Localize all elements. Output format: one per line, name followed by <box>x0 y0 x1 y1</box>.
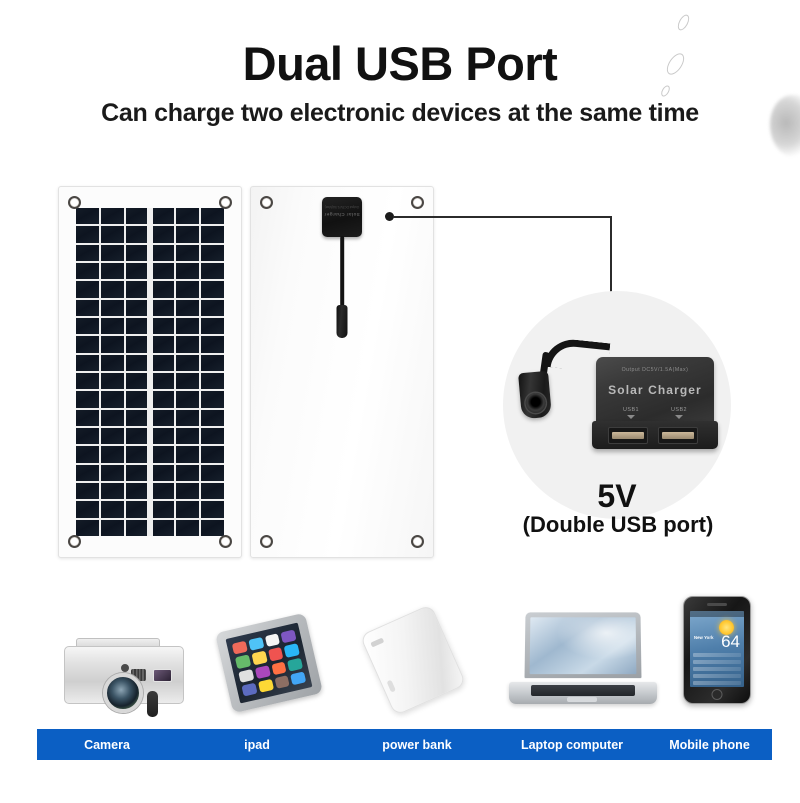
solar-cell <box>101 465 124 481</box>
grommet-icon <box>260 535 273 548</box>
app-icon <box>274 675 290 689</box>
solar-cell <box>153 465 174 481</box>
weather-temperature: 64 <box>721 633 740 650</box>
solar-cell <box>76 226 99 242</box>
usb1-label: USB1 <box>614 407 648 413</box>
solar-cell <box>153 263 174 279</box>
usb1-arrow-icon <box>627 415 635 419</box>
app-icon <box>251 651 267 665</box>
solar-cell <box>101 300 124 316</box>
usb-port-1 <box>608 427 648 444</box>
solar-cell <box>153 501 174 517</box>
solar-cell <box>76 465 99 481</box>
camera-viewfinder <box>153 669 172 682</box>
solar-cell <box>76 483 99 499</box>
grommet-icon <box>411 196 424 209</box>
solar-cell <box>201 245 224 261</box>
app-icon <box>287 657 303 671</box>
solar-cell <box>101 318 124 334</box>
solar-cell <box>101 391 124 407</box>
solar-cell <box>176 300 199 316</box>
solar-cell <box>101 410 124 426</box>
solar-cell <box>76 263 99 279</box>
solar-cell <box>76 245 99 261</box>
solar-cell <box>201 520 224 536</box>
solar-cell <box>153 355 174 371</box>
solar-cell <box>176 520 199 536</box>
solar-cell <box>201 300 224 316</box>
power-bank-port <box>370 638 384 648</box>
app-icon <box>271 661 287 675</box>
phone-speaker <box>707 603 727 606</box>
power-bank-button <box>387 680 396 693</box>
solar-cell <box>201 355 224 371</box>
device-mobile-phone: New York 64 <box>683 596 751 704</box>
camera-body <box>64 646 184 704</box>
dc-barrel-plug <box>518 371 552 419</box>
solar-cell <box>153 336 174 352</box>
solar-cell <box>76 446 99 462</box>
forecast-row <box>693 653 741 657</box>
phone-home-button <box>712 689 723 700</box>
usb2-arrow-icon <box>675 415 683 419</box>
solar-cell <box>126 483 147 499</box>
weather-forecast-rows <box>693 653 741 687</box>
power-bank-body <box>359 604 466 716</box>
solar-cell <box>201 465 224 481</box>
solar-cell <box>126 410 147 426</box>
laptop-base <box>509 682 657 704</box>
phone-status-bar <box>690 611 744 617</box>
solar-cell <box>76 300 99 316</box>
solar-cell <box>126 245 147 261</box>
solar-cell <box>201 281 224 297</box>
app-icon <box>248 637 264 651</box>
label-ipad: ipad <box>177 738 337 752</box>
solar-cell <box>201 410 224 426</box>
solar-cell <box>176 410 199 426</box>
device-row: New York 64 <box>37 592 772 704</box>
solar-cell <box>101 208 124 224</box>
solar-cell <box>176 373 199 389</box>
solar-cell <box>176 391 199 407</box>
ipad-screen <box>226 623 313 704</box>
forecast-row <box>693 660 741 664</box>
solar-cell <box>153 208 174 224</box>
usb-port-2 <box>658 427 698 444</box>
solar-cell <box>126 465 147 481</box>
solar-cell <box>101 483 124 499</box>
solar-cell <box>76 428 99 444</box>
solar-panel-front <box>58 186 242 558</box>
label-power-bank: power bank <box>337 738 497 752</box>
solar-cell <box>126 520 147 536</box>
solar-cell <box>201 336 224 352</box>
grommet-icon <box>219 535 232 548</box>
product-infographic: Dual USB Port Can charge two electronic … <box>0 0 800 803</box>
solar-cell <box>153 410 174 426</box>
phone-screen: New York 64 <box>690 611 744 687</box>
solar-cell <box>76 373 99 389</box>
app-icon <box>235 655 251 669</box>
solar-cell <box>101 281 124 297</box>
solar-cell <box>126 355 147 371</box>
solar-cell <box>153 520 174 536</box>
solar-cell <box>201 373 224 389</box>
junction-box: Solar Charger Output DC5V/1.5A(Max) <box>322 197 362 237</box>
solar-cell <box>101 501 124 517</box>
label-mobile-phone: Mobile phone <box>647 738 772 752</box>
solar-panel-back: Solar Charger Output DC5V/1.5A(Max) <box>250 186 434 558</box>
app-icon <box>281 629 297 643</box>
solar-cell <box>176 336 199 352</box>
solar-cell <box>126 226 147 242</box>
solar-cell <box>201 428 224 444</box>
solar-cell <box>126 208 147 224</box>
solar-cell <box>126 428 147 444</box>
app-icon <box>238 669 254 683</box>
dc-plug <box>337 305 348 338</box>
solar-cell <box>153 428 174 444</box>
solar-cell <box>76 520 99 536</box>
forecast-row <box>693 674 741 678</box>
device-laptop <box>509 612 657 704</box>
solar-cell <box>201 263 224 279</box>
solar-cell <box>76 501 99 517</box>
camera-lens <box>103 673 143 713</box>
solar-cell <box>176 318 199 334</box>
solar-cell-grid <box>76 208 224 536</box>
solar-cell <box>101 226 124 242</box>
solar-cell <box>153 226 174 242</box>
solar-cell <box>176 483 199 499</box>
solar-cell <box>126 318 147 334</box>
bubble-decor-1 <box>676 13 692 32</box>
solar-cell <box>201 318 224 334</box>
solar-cell <box>76 355 99 371</box>
solar-cell <box>176 355 199 371</box>
solar-cell <box>101 245 124 261</box>
solar-cell <box>176 263 199 279</box>
solar-cell <box>101 520 124 536</box>
device-label-bar: Camera ipad power bank Laptop computer M… <box>37 729 772 760</box>
charger-output-text: Output DC5V/1.5A(Max) <box>596 367 714 373</box>
solar-cell <box>101 336 124 352</box>
junction-box-output: Output DC5V/1.5A(Max) <box>322 205 362 209</box>
solar-cell <box>176 501 199 517</box>
solar-cell <box>176 428 199 444</box>
charger-port-strip <box>592 421 718 449</box>
label-camera: Camera <box>37 738 177 752</box>
page-subtitle: Can charge two electronic devices at the… <box>0 99 800 128</box>
grommet-icon <box>68 535 81 548</box>
solar-cell <box>153 446 174 462</box>
solar-cell <box>126 336 147 352</box>
solar-cell <box>153 281 174 297</box>
weather-city: New York <box>694 635 714 640</box>
app-icon <box>264 633 280 647</box>
junction-box-brand: Solar Charger <box>322 212 362 217</box>
solar-cell <box>176 208 199 224</box>
camera-shutter-button <box>121 664 129 672</box>
solar-cell <box>126 300 147 316</box>
voltage-caption: 5V <box>503 478 731 515</box>
device-ipad <box>215 613 323 714</box>
grommet-icon <box>411 535 424 548</box>
app-icon <box>290 671 306 685</box>
forecast-row <box>693 681 741 685</box>
dc-cable <box>340 236 344 308</box>
forecast-row <box>693 667 741 671</box>
app-icon <box>268 647 284 661</box>
solar-cell <box>201 391 224 407</box>
solar-cell <box>126 446 147 462</box>
ports-caption: (Double USB port) <box>480 512 756 538</box>
solar-charger-module: Output DC5V/1.5A(Max) Solar Charger USB1… <box>596 357 714 425</box>
page-title: Dual USB Port <box>0 36 800 91</box>
app-icon <box>241 682 257 696</box>
phone-body: New York 64 <box>683 596 751 704</box>
label-laptop: Laptop computer <box>497 738 647 752</box>
laptop-keyboard <box>531 685 635 696</box>
solar-cell <box>153 245 174 261</box>
solar-cell <box>101 428 124 444</box>
solar-cell <box>176 465 199 481</box>
usb2-label: USB2 <box>662 407 696 413</box>
solar-cell <box>126 391 147 407</box>
solar-cell <box>101 263 124 279</box>
solar-cell <box>153 300 174 316</box>
solar-cell <box>201 226 224 242</box>
solar-cell <box>76 336 99 352</box>
laptop-screen <box>530 617 637 674</box>
app-icon <box>232 641 248 655</box>
solar-cell <box>126 263 147 279</box>
solar-cell <box>201 446 224 462</box>
device-camera <box>64 632 184 704</box>
solar-cell <box>76 410 99 426</box>
app-icon <box>258 679 274 693</box>
app-icon <box>254 665 270 679</box>
callout-line-horizontal <box>393 216 612 218</box>
solar-cell <box>153 373 174 389</box>
grommet-icon <box>260 196 273 209</box>
solar-cell <box>176 281 199 297</box>
ipad-body <box>215 613 323 714</box>
solar-cell <box>201 483 224 499</box>
solar-cell <box>76 208 99 224</box>
solar-cell <box>153 483 174 499</box>
solar-cell <box>101 446 124 462</box>
laptop-trackpad <box>567 697 597 702</box>
solar-cell <box>76 318 99 334</box>
solar-cell <box>101 355 124 371</box>
solar-cell <box>201 501 224 517</box>
solar-cell <box>76 391 99 407</box>
grommet-icon <box>68 196 81 209</box>
grommet-icon <box>219 196 232 209</box>
solar-cell <box>126 373 147 389</box>
solar-cell <box>176 446 199 462</box>
solar-cell <box>176 226 199 242</box>
solar-cell <box>101 373 124 389</box>
solar-cell <box>201 208 224 224</box>
solar-cell <box>126 501 147 517</box>
solar-cell <box>76 281 99 297</box>
solar-cell <box>153 391 174 407</box>
laptop-lid <box>525 612 642 678</box>
solar-cell <box>176 245 199 261</box>
charger-brand-text: Solar Charger <box>596 383 714 397</box>
solar-cell <box>153 318 174 334</box>
device-power-bank <box>359 604 466 716</box>
solar-cell <box>126 281 147 297</box>
camera-grip <box>147 691 158 717</box>
app-icon <box>284 643 300 657</box>
